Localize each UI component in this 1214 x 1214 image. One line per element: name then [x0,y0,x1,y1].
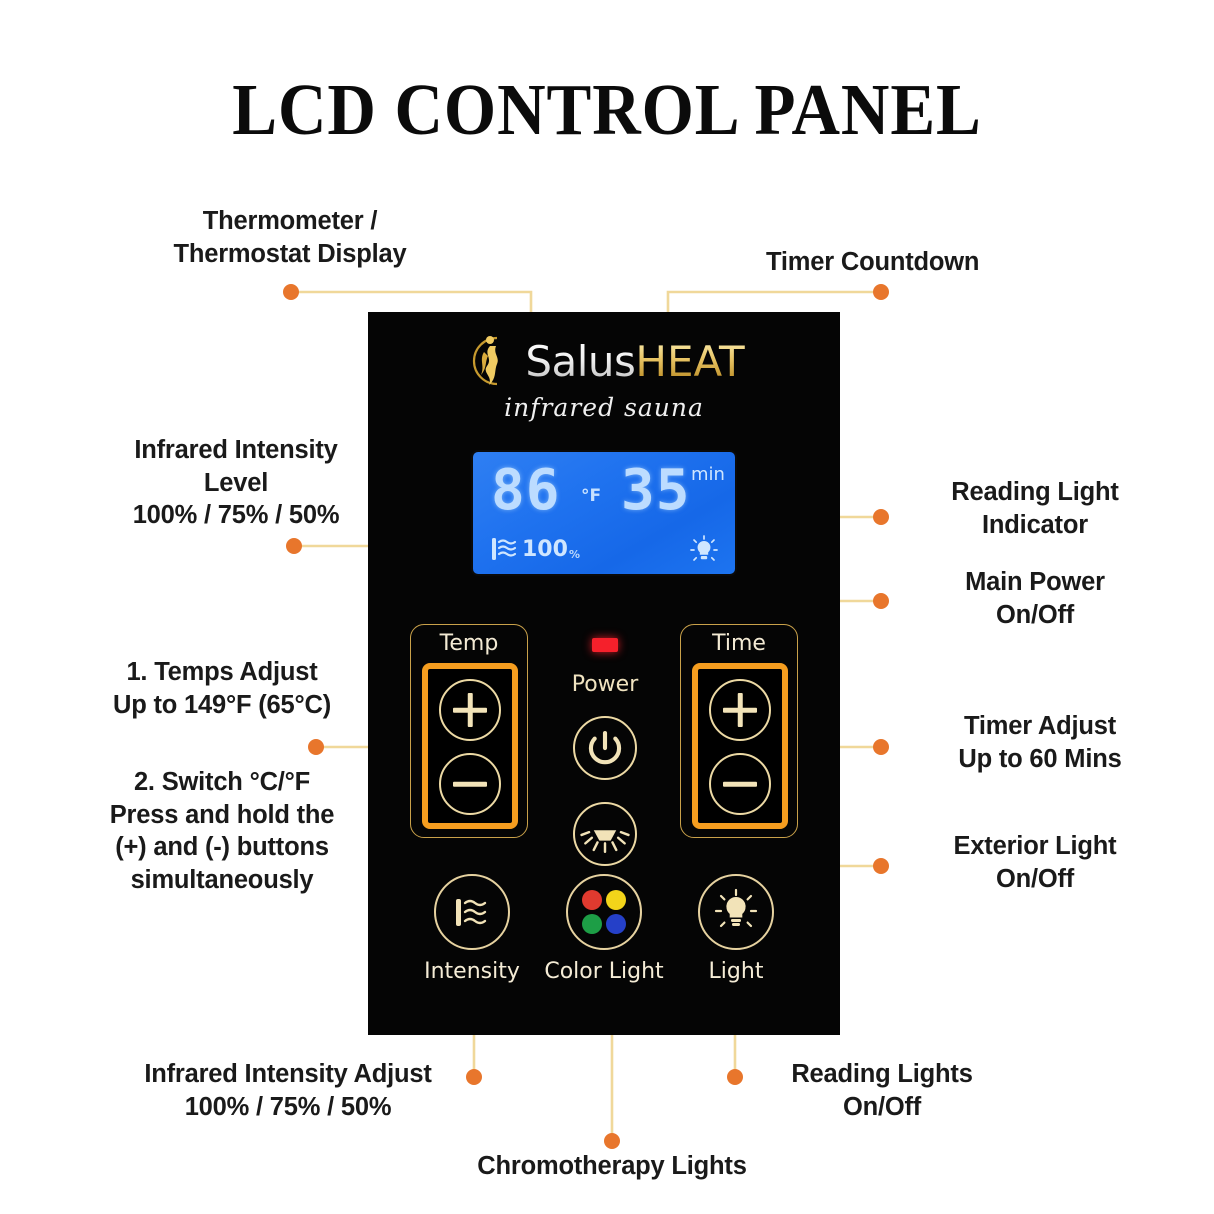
power-led-indicator [592,638,618,652]
heat-wave-icon [489,534,519,564]
callout-temps-adjust: 1. Temps Adjust Up to 149°F (65°C) [72,656,372,721]
brand-name-secondary: HEAT [635,337,744,386]
callout-exterior-light: Exterior Light On/Off [895,830,1175,895]
flame-figure-icon [463,332,519,390]
infographic-canvas: LCD CONTROL PANEL [0,0,1214,1214]
plus-icon-vertical [738,693,743,727]
light-bulb-icon [689,534,719,566]
color-light-button[interactable]: Color Light [566,874,642,984]
power-icon [575,718,635,778]
callout-timer-countdown: Timer Countdown [766,246,1066,279]
time-increase-button[interactable] [709,679,771,741]
temperature-value: 86 [491,458,560,523]
temp-decrease-button[interactable] [439,753,501,815]
timer-unit: min [691,464,725,485]
brand-logo: Salus HEAT infrared sauna [368,330,840,440]
color-dot-red [582,890,602,910]
light-button-circle [698,874,774,950]
lcd-intensity-unit: % [569,548,580,561]
time-button-well [692,663,788,829]
page-title: LCD CONTROL PANEL [49,68,1166,152]
lcd-display: 86 °F 35 min 100 % [473,452,735,574]
color-light-button-label: Color Light [528,959,680,984]
lcd-intensity-indicator: 100 % [489,534,580,564]
time-group-label: Time [681,631,797,656]
brand-name-primary: Salus [525,337,635,386]
callout-chromotherapy-lights: Chromotherapy Lights [447,1150,777,1183]
color-dot-blue [606,914,626,934]
timer-value: 35 [621,458,690,523]
temp-group-label: Temp [411,631,527,656]
light-button-label: Light [676,959,796,984]
time-adjust-group: Time [680,624,798,838]
color-dot-yellow [606,890,626,910]
intensity-button-label: Intensity [412,959,532,984]
callout-thermometer-display: Thermometer / Thermostat Display [120,205,460,270]
brand-tagline: infrared sauna [368,393,840,422]
callout-reading-lights: Reading Lights On/Off [752,1058,1012,1123]
light-button[interactable]: Light [698,874,774,984]
color-light-button-circle [566,874,642,950]
minus-icon [453,782,487,787]
plus-icon-vertical [468,693,473,727]
power-label: Power [538,672,672,697]
minus-icon [723,782,757,787]
exterior-light-button[interactable] [573,802,637,866]
time-decrease-button[interactable] [709,753,771,815]
color-dot-green [582,914,602,934]
lcd-control-panel: Salus HEAT infrared sauna 86 °F 35 min [368,312,840,1035]
callout-infrared-intensity-level: Infrared Intensity Level 100% / 75% / 50… [86,434,386,532]
temp-increase-button[interactable] [439,679,501,741]
lcd-intensity-value: 100 [522,537,568,562]
light-bulb-rays-icon [712,887,760,937]
temp-adjust-group: Temp [410,624,528,838]
callout-main-power: Main Power On/Off [895,566,1175,631]
callout-infrared-intensity-adjust: Infrared Intensity Adjust 100% / 75% / 5… [108,1058,468,1123]
intensity-button-circle [434,874,510,950]
temperature-unit: °F [581,486,601,506]
color-dots-icon [580,888,628,936]
callout-timer-adjust: Timer Adjust Up to 60 Mins [895,710,1185,775]
callout-reading-light-indicator: Reading Light Indicator [895,476,1175,541]
intensity-button[interactable]: Intensity [434,874,510,984]
heat-wave-icon [448,888,496,936]
callout-switch-unit: 2. Switch °C/°F Press and hold the (+) a… [72,766,372,897]
power-button[interactable] [573,716,637,780]
temp-button-well [422,663,518,829]
downlight-icon [575,804,635,864]
